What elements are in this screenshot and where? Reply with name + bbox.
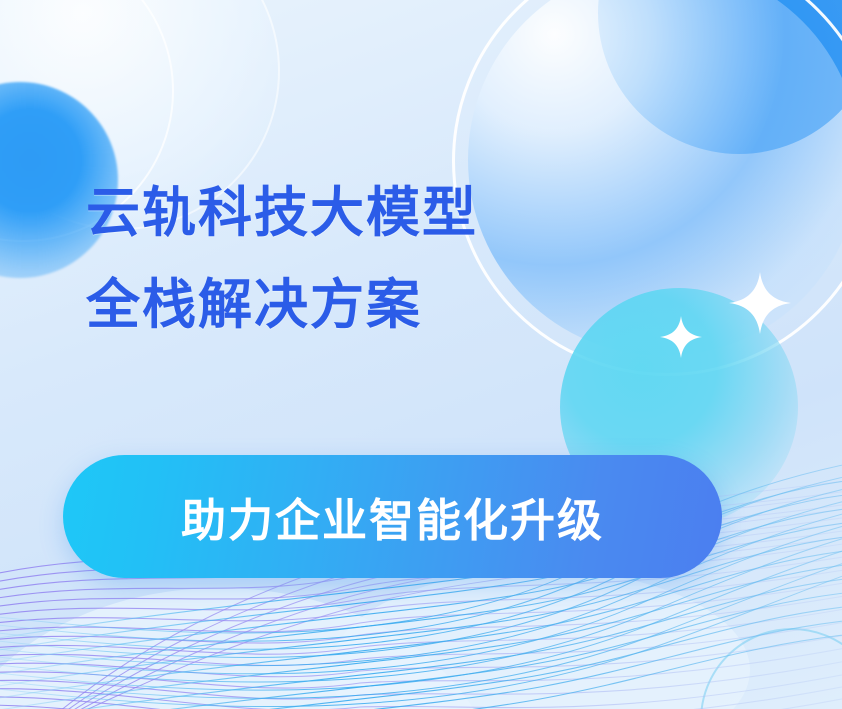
headline-line-2: 全栈解决方案 bbox=[86, 278, 478, 332]
blue-circle-decoration-top-right bbox=[598, 0, 842, 154]
promo-banner: 云轨科技大模型 全栈解决方案 助力企业智能化升级 bbox=[0, 0, 842, 709]
headline-line-1: 云轨科技大模型 bbox=[86, 186, 478, 240]
cta-button[interactable]: 助力企业智能化升级 bbox=[63, 455, 722, 578]
sparkle-small-icon bbox=[660, 316, 702, 358]
headline-block: 云轨科技大模型 全栈解决方案 bbox=[86, 186, 478, 332]
sparkle-large-icon bbox=[729, 272, 791, 334]
